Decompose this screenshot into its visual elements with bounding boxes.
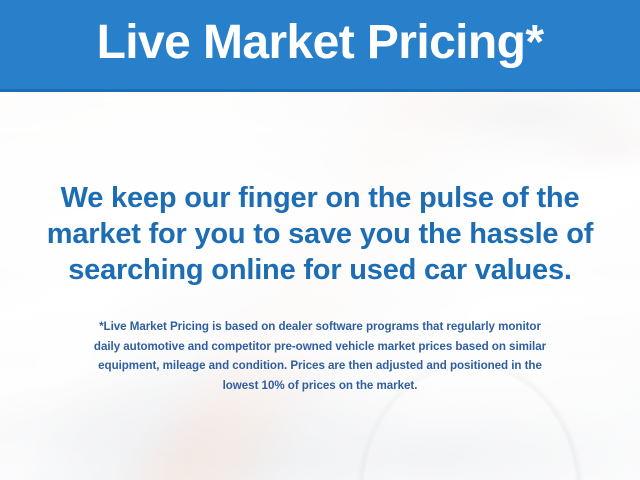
headline-line-1: We keep our finger on the pulse of the	[20, 180, 620, 216]
disclaimer-text: *Live Market Pricing is based on dealer …	[22, 317, 618, 395]
live-market-pricing-banner: Live Market Pricing* We keep our finger …	[0, 0, 640, 480]
headline-line-3: searching online for used car values.	[20, 252, 620, 288]
content-area: We keep our finger on the pulse of the m…	[0, 92, 640, 480]
headline-line-2: market for you to save you the hassle of	[20, 216, 620, 252]
disclaimer-line-3: equipment, mileage and condition. Prices…	[22, 356, 618, 376]
disclaimer-line-4: lowest 10% of prices on the market.	[22, 376, 618, 396]
disclaimer-line-1: *Live Market Pricing is based on dealer …	[22, 317, 618, 337]
disclaimer-line-2: daily automotive and competitor pre-owne…	[22, 337, 618, 357]
header-bar: Live Market Pricing*	[0, 0, 640, 92]
headline: We keep our finger on the pulse of the m…	[20, 180, 620, 288]
page-title: Live Market Pricing*	[97, 17, 544, 73]
